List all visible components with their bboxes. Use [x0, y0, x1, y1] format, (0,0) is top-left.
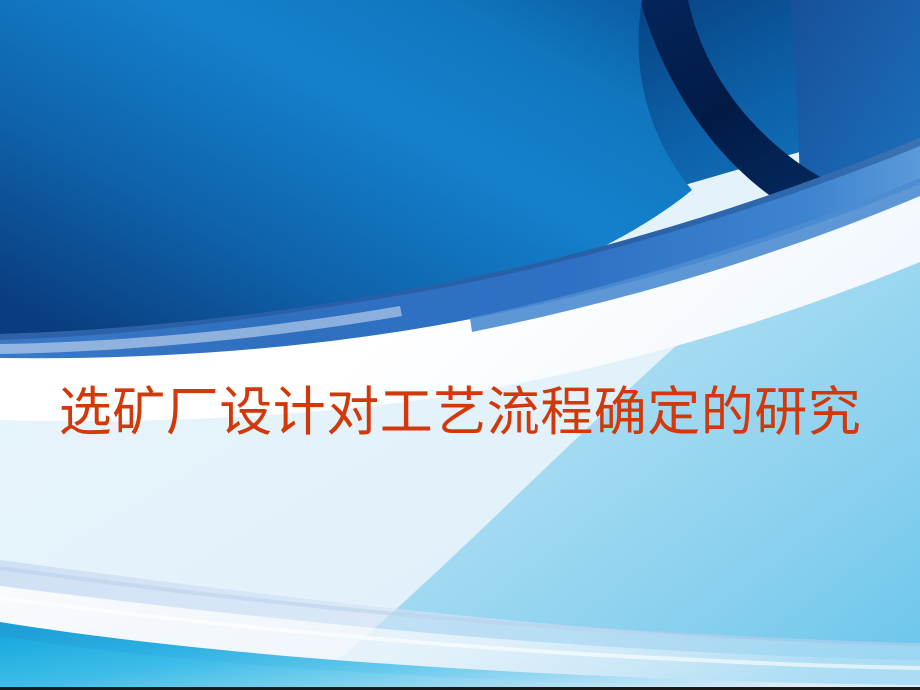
slide-canvas: 选矿厂设计对工艺流程确定的研究 — [0, 0, 920, 690]
slide-background-graphic — [0, 0, 920, 690]
